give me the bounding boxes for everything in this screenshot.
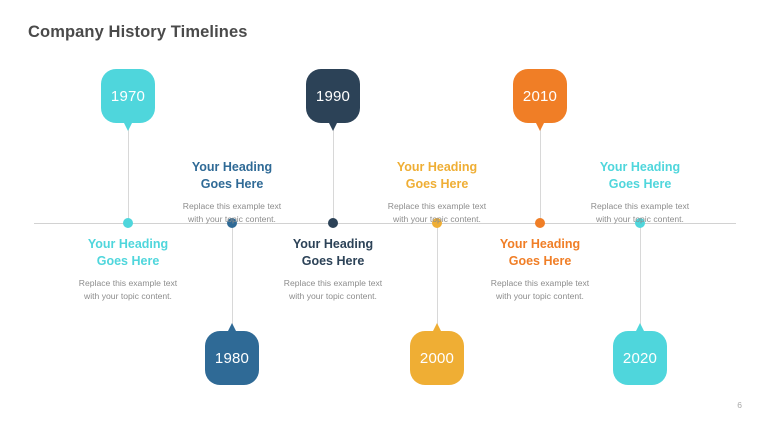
year-label: 2000 bbox=[420, 351, 454, 366]
milestone-heading-line2: Goes Here bbox=[146, 176, 318, 193]
page-number: 6 bbox=[737, 400, 742, 410]
milestone-heading-line1: Your Heading bbox=[351, 159, 523, 176]
page-title: Company History Timelines bbox=[28, 23, 248, 42]
connector-line-2020 bbox=[640, 225, 641, 333]
milestone-body: Replace this example textwith your topic… bbox=[351, 200, 523, 226]
milestone-body: Replace this example textwith your topic… bbox=[554, 200, 726, 226]
year-pin-1970[interactable]: 1970 bbox=[101, 69, 155, 123]
text-block-1990: Your HeadingGoes HereReplace this exampl… bbox=[247, 236, 419, 303]
year-pin-1980[interactable]: 1980 bbox=[205, 331, 259, 385]
milestone-heading-line1: Your Heading bbox=[146, 159, 318, 176]
year-pin-2010[interactable]: 2010 bbox=[513, 69, 567, 123]
axis-dot-1990[interactable] bbox=[328, 218, 338, 228]
text-block-2000: Your HeadingGoes HereReplace this exampl… bbox=[351, 159, 523, 226]
year-pin-2000[interactable]: 2000 bbox=[410, 331, 464, 385]
milestone-body-line2: with your topic content. bbox=[42, 290, 214, 303]
milestone-body-line1: Replace this example text bbox=[247, 277, 419, 290]
milestone-body-line2: with your topic content. bbox=[554, 213, 726, 226]
milestone-heading-line1: Your Heading bbox=[454, 236, 626, 253]
milestone-heading-line1: Your Heading bbox=[554, 159, 726, 176]
milestone-body-line1: Replace this example text bbox=[554, 200, 726, 213]
milestone-body: Replace this example textwith your topic… bbox=[247, 277, 419, 303]
milestone-body-line2: with your topic content. bbox=[351, 213, 523, 226]
milestone-heading-line2: Goes Here bbox=[554, 176, 726, 193]
milestone-heading: Your HeadingGoes Here bbox=[146, 159, 318, 193]
text-block-1980: Your HeadingGoes HereReplace this exampl… bbox=[146, 159, 318, 226]
milestone-body: Replace this example textwith your topic… bbox=[146, 200, 318, 226]
milestone-body: Replace this example textwith your topic… bbox=[454, 277, 626, 303]
milestone-heading-line2: Goes Here bbox=[454, 253, 626, 270]
text-block-2020: Your HeadingGoes HereReplace this exampl… bbox=[554, 159, 726, 226]
milestone-body-line1: Replace this example text bbox=[351, 200, 523, 213]
milestone-body-line1: Replace this example text bbox=[146, 200, 318, 213]
milestone-heading-line2: Goes Here bbox=[351, 176, 523, 193]
year-label: 2020 bbox=[623, 351, 657, 366]
year-label: 2010 bbox=[523, 89, 557, 104]
year-pin-1990[interactable]: 1990 bbox=[306, 69, 360, 123]
milestone-heading: Your HeadingGoes Here bbox=[554, 159, 726, 193]
year-label: 1980 bbox=[215, 351, 249, 366]
milestone-body-line2: with your topic content. bbox=[146, 213, 318, 226]
milestone-heading-line1: Your Heading bbox=[42, 236, 214, 253]
milestone-heading-line2: Goes Here bbox=[42, 253, 214, 270]
milestone-heading: Your HeadingGoes Here bbox=[351, 159, 523, 193]
year-label: 1970 bbox=[111, 89, 145, 104]
connector-line-1990 bbox=[333, 124, 334, 224]
text-block-1970: Your HeadingGoes HereReplace this exampl… bbox=[42, 236, 214, 303]
axis-dot-2010[interactable] bbox=[535, 218, 545, 228]
milestone-heading-line2: Goes Here bbox=[247, 253, 419, 270]
connector-line-1970 bbox=[128, 124, 129, 224]
milestone-heading-line1: Your Heading bbox=[247, 236, 419, 253]
milestone-body-line2: with your topic content. bbox=[247, 290, 419, 303]
connector-line-1980 bbox=[232, 225, 233, 333]
milestone-body-line1: Replace this example text bbox=[454, 277, 626, 290]
connector-line-2000 bbox=[437, 225, 438, 333]
milestone-body-line1: Replace this example text bbox=[42, 277, 214, 290]
milestone-body: Replace this example textwith your topic… bbox=[42, 277, 214, 303]
slide-canvas: Company History Timelines 1970Your Headi… bbox=[0, 0, 768, 432]
milestone-heading: Your HeadingGoes Here bbox=[42, 236, 214, 270]
year-label: 1990 bbox=[316, 89, 350, 104]
milestone-heading: Your HeadingGoes Here bbox=[247, 236, 419, 270]
connector-line-2010 bbox=[540, 124, 541, 224]
year-pin-2020[interactable]: 2020 bbox=[613, 331, 667, 385]
axis-dot-1970[interactable] bbox=[123, 218, 133, 228]
milestone-body-line2: with your topic content. bbox=[454, 290, 626, 303]
milestone-heading: Your HeadingGoes Here bbox=[454, 236, 626, 270]
text-block-2010: Your HeadingGoes HereReplace this exampl… bbox=[454, 236, 626, 303]
